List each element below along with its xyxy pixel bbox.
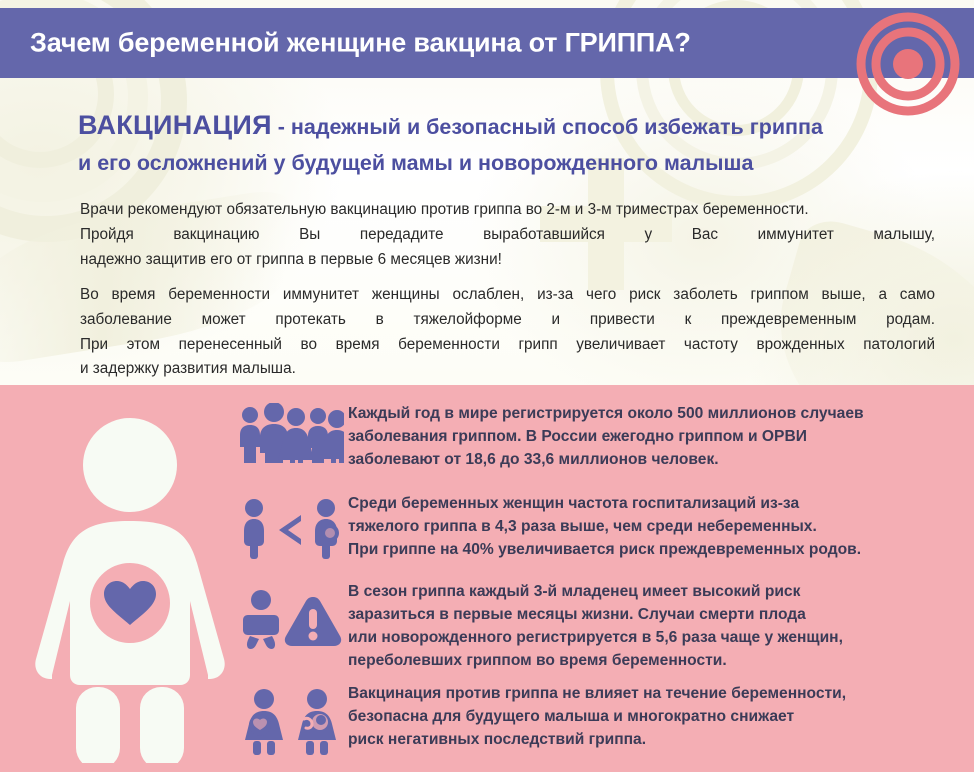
fact-text: Среди беременных женщин частота госпитал… — [348, 493, 938, 562]
infographic-poster: Зачем беременной женщине вакцина от ГРИП… — [0, 0, 974, 772]
paragraph-line: Врачи рекомендуют обязательную вакцинаци… — [80, 198, 935, 223]
fact-row: Вакцинация против гриппа не влияет на те… — [238, 683, 938, 755]
fact-line: Среди беременных женщин частота госпитал… — [348, 493, 938, 516]
body-paragraph-1: Врачи рекомендуют обязательную вакцинаци… — [80, 198, 935, 272]
warning-triangle-icon — [285, 597, 341, 646]
fact-icon-group — [238, 403, 348, 463]
subtitle-line-1: ВАКЦИНАЦИЯ - надежный и безопасный спосо… — [78, 106, 938, 144]
fact-line: риск негативных последствий гриппа. — [348, 729, 938, 752]
fact-icon-group — [238, 581, 348, 651]
paragraph-line: Пройдя вакцинацию Вы передадите выработа… — [80, 223, 935, 248]
fact-icon-group — [238, 493, 348, 559]
paragraph-line: Во время беременности иммунитет женщины … — [80, 283, 935, 308]
header-bar: Зачем беременной женщине вакцина от ГРИП… — [0, 8, 974, 78]
less-than-icon — [279, 515, 301, 545]
statistics-panel: Каждый год в мире регистрируется около 5… — [0, 385, 974, 772]
pregnant-woman-icon — [315, 499, 339, 559]
subtitle-line-1-rest: - надежный и безопасный способ избежать … — [272, 115, 823, 139]
fact-row: Среди беременных женщин частота госпитал… — [238, 493, 938, 562]
pregnant-woman-silhouette-icon — [30, 391, 230, 763]
paragraph-line: При этом перенесенный во время беременно… — [80, 333, 935, 358]
fact-line: безопасна для будущего малыша и многокра… — [348, 706, 938, 729]
fact-row: Каждый год в мире регистрируется около 5… — [238, 403, 938, 472]
concentric-target-icon — [856, 12, 960, 116]
subtitle-block: ВАКЦИНАЦИЯ - надежный и безопасный спосо… — [78, 106, 938, 179]
baby-icon — [243, 590, 279, 649]
mother-holding-baby-icon — [298, 689, 336, 755]
fact-text: Вакцинация против гриппа не влияет на те… — [348, 683, 938, 752]
fact-row: В сезон гриппа каждый 3-й младенец имеет… — [238, 581, 938, 673]
standing-woman-icon — [244, 499, 264, 559]
fact-line: В сезон гриппа каждый 3-й младенец имеет… — [348, 581, 938, 604]
group-of-people-icon — [238, 403, 344, 463]
paragraph-line: надежно защитив его от гриппа в первые 6… — [80, 248, 935, 273]
fact-line: заразиться в первые месяцы жизни. Случаи… — [348, 604, 938, 627]
body-paragraph-2: Во время беременности иммунитет женщины … — [80, 283, 935, 382]
fact-line: Вакцинация против гриппа не влияет на те… — [348, 683, 938, 706]
fact-line: заболевают от 18,6 до 33,6 миллионов чел… — [348, 449, 938, 472]
fact-icon-group — [238, 683, 348, 755]
fact-line: тяжелого гриппа в 4,3 раза выше, чем сре… — [348, 516, 938, 539]
fact-line: Каждый год в мире регистрируется около 5… — [348, 403, 938, 426]
fact-text: В сезон гриппа каждый 3-й младенец имеет… — [348, 581, 938, 673]
fact-line: или новорожденного регистрируется в 5,6 … — [348, 627, 938, 650]
subtitle-line-2: и его осложнений у будущей мамы и новоро… — [78, 148, 938, 179]
fact-line: При гриппе на 40% увеличивается риск пре… — [348, 539, 938, 562]
paragraph-line: и задержку развития малыша. — [80, 357, 935, 382]
pregnant-woman-icon — [245, 689, 283, 755]
fact-line: заболевания гриппом. В России ежегодно г… — [348, 426, 938, 449]
paragraph-line: заболевание может протекать в тяжелойфор… — [80, 308, 935, 333]
subtitle-lead-word: ВАКЦИНАЦИЯ — [78, 110, 272, 140]
fact-line: переболевших гриппом во время беременнос… — [348, 650, 938, 673]
page-title: Зачем беременной женщине вакцина от ГРИП… — [30, 28, 691, 59]
fact-text: Каждый год в мире регистрируется около 5… — [348, 403, 938, 472]
